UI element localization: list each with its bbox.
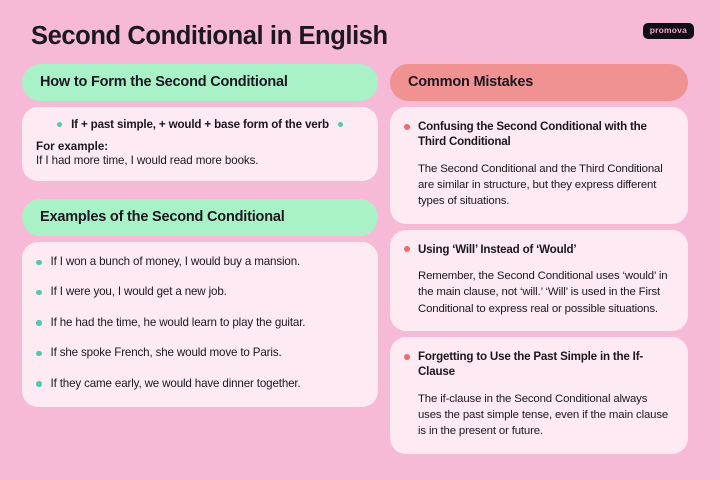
section-header-examples: Examples of the Second Conditional <box>22 199 378 236</box>
example-text: If he had the time, he would learn to pl… <box>51 316 306 330</box>
bullet-dot-icon <box>36 260 42 266</box>
bullet-dot-icon <box>36 381 42 387</box>
mistake-title: Forgetting to Use the Past Simple in the… <box>418 349 673 380</box>
examples-card: If I won a bunch of money, I would buy a… <box>22 242 378 407</box>
mistake-card: Confusing the Second Conditional with th… <box>390 107 688 224</box>
bullet-dot-icon <box>36 290 42 296</box>
bullet-dot-icon <box>404 246 410 252</box>
bullet-dot-icon <box>36 351 42 357</box>
right-column: Common Mistakes Confusing the Second Con… <box>390 64 688 454</box>
formula-row: If + past simple, + would + base form of… <box>36 118 364 131</box>
bullet-dot-icon <box>36 320 42 326</box>
promova-logo: promova <box>643 23 694 39</box>
mistake-heading-row: Using ‘Will’ Instead of ‘Would’ <box>404 242 673 257</box>
list-item: If he had the time, he would learn to pl… <box>36 316 364 330</box>
section-header-common-mistakes: Common Mistakes <box>390 64 688 101</box>
how-to-form-card: If + past simple, + would + base form of… <box>22 107 378 181</box>
bullet-dot-icon <box>404 354 410 360</box>
mistake-card: Using ‘Will’ Instead of ‘Would’ Remember… <box>390 230 688 331</box>
content-columns: How to Form the Second Conditional If + … <box>0 64 720 474</box>
mistake-body: Remember, the Second Conditional uses ‘w… <box>418 268 673 317</box>
mistake-title: Using ‘Will’ Instead of ‘Would’ <box>418 242 576 257</box>
infographic-poster: Second Conditional in English promova Ho… <box>0 0 720 480</box>
promova-logo-text: promova <box>650 26 687 35</box>
bullet-dot-icon <box>404 124 410 130</box>
poster-header: Second Conditional in English promova <box>0 14 720 58</box>
bullet-dot-icon <box>338 122 344 128</box>
list-item: If they came early, we would have dinner… <box>36 377 364 391</box>
mistake-body: The if-clause in the Second Conditional … <box>418 391 673 440</box>
mistake-card: Forgetting to Use the Past Simple in the… <box>390 337 688 454</box>
for-example-sentence: If I had more time, I would read more bo… <box>36 154 364 167</box>
formula-text: If + past simple, + would + base form of… <box>71 118 329 131</box>
for-example-label: For example: <box>36 140 364 153</box>
example-text: If she spoke French, she would move to P… <box>51 346 282 360</box>
mistake-body: The Second Conditional and the Third Con… <box>418 161 673 210</box>
section-header-how-to-form: How to Form the Second Conditional <box>22 64 378 101</box>
list-item: If I were you, I would get a new job. <box>36 285 364 299</box>
bullet-dot-icon <box>57 122 63 128</box>
example-text: If I were you, I would get a new job. <box>51 285 227 299</box>
mistake-title: Confusing the Second Conditional with th… <box>418 119 673 150</box>
left-column: How to Form the Second Conditional If + … <box>22 64 378 407</box>
list-item: If I won a bunch of money, I would buy a… <box>36 255 364 269</box>
example-text: If they came early, we would have dinner… <box>51 377 301 391</box>
mistake-heading-row: Confusing the Second Conditional with th… <box>404 119 673 150</box>
example-text: If I won a bunch of money, I would buy a… <box>51 255 301 269</box>
page-title: Second Conditional in English <box>31 22 388 51</box>
list-item: If she spoke French, she would move to P… <box>36 346 364 360</box>
mistake-heading-row: Forgetting to Use the Past Simple in the… <box>404 349 673 380</box>
